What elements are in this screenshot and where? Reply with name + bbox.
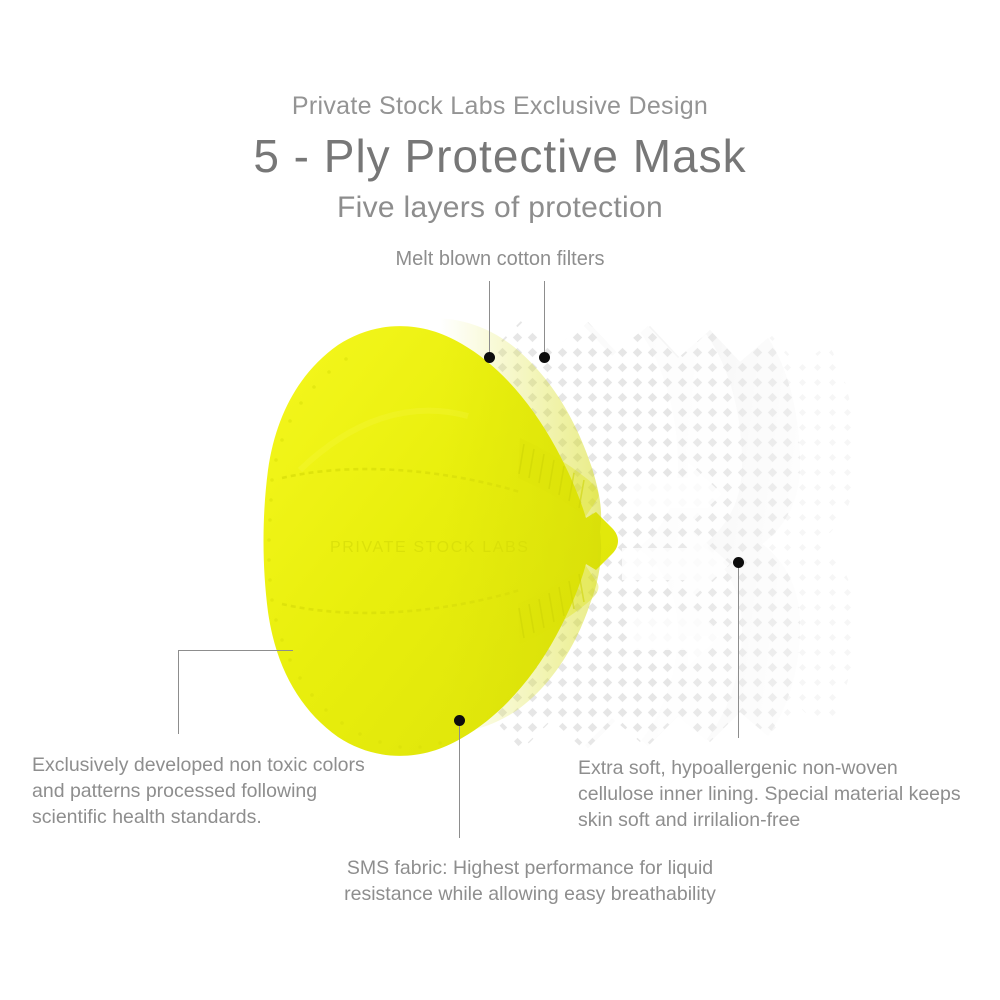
leader-line-inner <box>738 568 739 738</box>
leader-line-melt-b <box>544 281 545 355</box>
mask-weld-hatch-lower <box>519 574 584 638</box>
mask-fold-seam-bottom <box>282 590 520 613</box>
mask-weld-upper <box>518 438 599 516</box>
leader-line-melt-a <box>489 281 490 355</box>
leader-dot-melt-a <box>484 352 495 363</box>
leader-dot-melt-b <box>539 352 550 363</box>
leader-line-colors-vertical <box>178 650 179 734</box>
mask-body <box>264 326 619 756</box>
brand-eyebrow: Private Stock Labs Exclusive Design <box>0 92 1000 121</box>
infographic-page: Private Stock Labs Exclusive Design 5 - … <box>0 0 1000 1000</box>
airflow-arrows <box>622 462 730 666</box>
airflow-arrow-icon <box>622 530 730 598</box>
mask-weld-lower <box>518 566 599 644</box>
mask-ply-3 <box>528 322 742 748</box>
brand-imprint-text: PRIVATE STOCK LABS <box>330 539 530 556</box>
page-subtitle: Five layers of protection <box>0 191 1000 225</box>
leader-line-colors-horizontal <box>178 650 293 651</box>
callout-sms-fabric: SMS fabric: Highest performance for liqu… <box>300 855 760 907</box>
mask-weld-hatch-upper <box>519 444 584 508</box>
leader-dot-sms <box>454 715 465 726</box>
leader-dot-inner <box>733 557 744 568</box>
airflow-arrow-icon <box>628 462 722 526</box>
mask-ply-2 <box>460 320 678 750</box>
leader-line-sms <box>459 726 460 838</box>
page-title: 5 - Ply Protective Mask <box>0 129 1000 183</box>
callout-inner-lining: Extra soft, hypoallergenic non-woven cel… <box>578 755 978 833</box>
airflow-arrow-icon <box>628 602 722 666</box>
callout-melt-blown-filters: Melt blown cotton filters <box>0 246 1000 272</box>
mask-ply-4 <box>590 326 800 744</box>
mask-fold-seam-top <box>282 469 520 492</box>
callout-non-toxic-colors: Exclusively developed non toxic colors a… <box>32 752 377 830</box>
mask-edge-perforation <box>267 357 442 749</box>
mask-ply-5 <box>652 332 856 740</box>
mask-front-yellow: PRIVATE STOCK LABS <box>264 300 641 760</box>
